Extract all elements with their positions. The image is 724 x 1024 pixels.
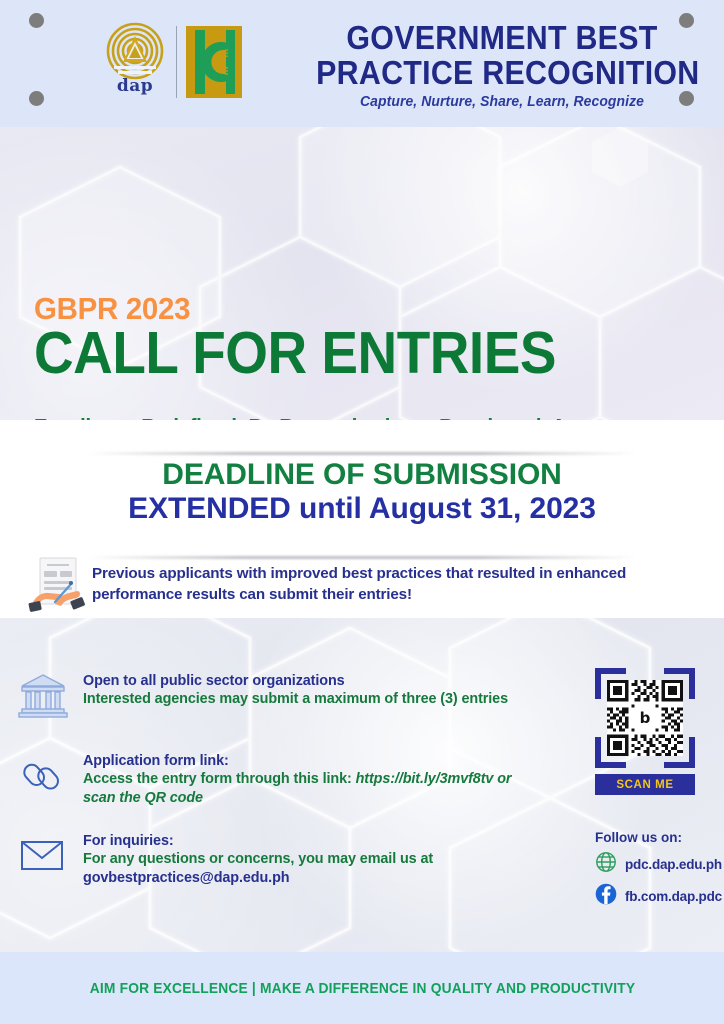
header-tagline: Capture, Nurture, Share, Learn, Recogniz… (308, 94, 696, 110)
qr-block[interactable]: b SCAN ME (595, 668, 695, 795)
divider-top (88, 452, 636, 455)
header-title-line2: PRACTICE RECOGNITION (316, 55, 688, 90)
bank-building-icon (18, 672, 68, 718)
application-form-icon (23, 552, 93, 622)
poster-footer: AIM FOR EXCELLENCE | MAKE A DIFFERENCE I… (0, 952, 724, 1024)
globe-icon (595, 851, 617, 878)
info-row-application-link[interactable]: Application form link: Access the entry … (18, 752, 538, 808)
follow-website[interactable]: pdc.dap.edu.ph (595, 851, 715, 878)
corner-dot (29, 91, 44, 106)
logo-group: dap (103, 22, 242, 102)
divider-bottom (88, 556, 636, 559)
bitly-logo-icon: b (633, 706, 657, 730)
info-row-inquiries: For inquiries: For any questions or conc… (18, 832, 538, 888)
pdc-logo (186, 26, 242, 98)
info-row-heading: Application form link: (83, 752, 538, 770)
scan-me-label: SCAN ME (595, 774, 695, 795)
info-row-heading: For inquiries: (83, 832, 433, 850)
info-row-open-to-all: Open to all public sector organizations … (18, 672, 538, 718)
info-row-body: For any questions or concerns, you may e… (83, 850, 433, 869)
info-row-body: Interested agencies may submit a maximum… (83, 690, 508, 709)
follow-facebook[interactable]: fb.com.dap.pdc (595, 883, 715, 910)
contact-email[interactable]: govbestpractices@dap.edu.ph (83, 869, 433, 888)
poster: dap GOVERNMENT BEST PRA (0, 0, 724, 1024)
deadline-line1: DEADLINE OF SUBMISSION (0, 458, 724, 492)
follow-title: Follow us on: (595, 830, 715, 845)
hero-section: GBPR 2023 CALL FOR ENTRIES Excellence Re… (0, 127, 724, 420)
follow-block: Follow us on: pdc.dap.edu.ph (595, 830, 715, 915)
deadline-note: Previous applicants with improved best p… (92, 563, 676, 605)
dap-logo: dap (103, 22, 167, 102)
footer-slogan: AIM FOR EXCELLENCE | MAKE A DIFFERENCE I… (89, 980, 635, 997)
facebook-url[interactable]: fb.com.dap.pdc (625, 889, 722, 904)
poster-header: dap GOVERNMENT BEST PRA (0, 0, 724, 127)
logo-divider (176, 26, 177, 98)
header-title-line1: GOVERNMENT BEST (316, 20, 688, 55)
header-title-block: GOVERNMENT BEST PRACTICE RECOGNITION Cap… (300, 20, 704, 110)
link-chain-icon (18, 752, 68, 798)
info-row-body: Access the entry form through this link:… (83, 770, 538, 808)
dap-rings-icon (106, 22, 164, 80)
hero-headline: CALL FOR ENTRIES (34, 323, 556, 383)
info-row-heading: Open to all public sector organizations (83, 672, 508, 690)
deadline-line2: EXTENDED until August 31, 2023 (0, 492, 724, 526)
link-prefix-text: Access the entry form through this link: (83, 771, 356, 787)
qr-code[interactable]: b (595, 668, 695, 768)
facebook-icon (595, 883, 617, 910)
envelope-icon (18, 832, 68, 878)
website-url[interactable]: pdc.dap.edu.ph (625, 857, 722, 872)
application-form-url[interactable]: https://bit.ly/3mvf8tv (356, 771, 494, 787)
corner-dot (29, 13, 44, 28)
